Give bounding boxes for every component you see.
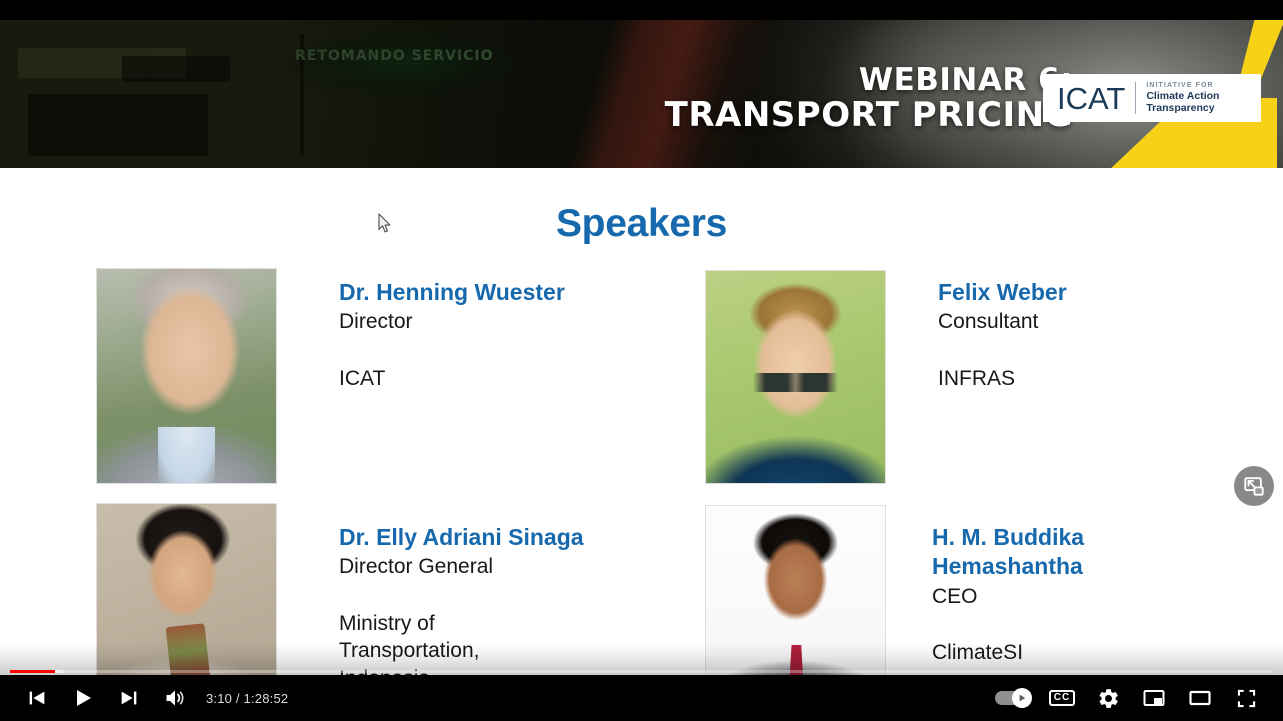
icat-wordmark: ICAT [1057,83,1125,114]
webinar-banner: RETOMANDO SERVICIO WEBINAR 6: TRANSPORT … [0,20,1283,168]
speaker-role: Consultant [938,308,1268,335]
fullscreen-button[interactable] [1223,675,1269,721]
speaker-name: Dr. Henning Wuester [339,278,669,307]
speaker-name: Dr. Elly Adriani Sinaga [339,523,669,552]
icat-logo-divider [1135,82,1136,114]
time-display: 3:10 / 1:28:52 [198,691,298,706]
previous-icon [26,687,48,709]
icat-tagline: INITIATIVE FOR Climate Action Transparen… [1146,82,1219,115]
progress-played [10,670,55,673]
volume-icon [163,686,187,710]
speaker-org: ICAT [339,365,669,393]
next-icon [118,687,140,709]
autoplay-toggle[interactable] [985,675,1039,721]
player-controls-right: CC [985,675,1269,721]
speaker-role: Director [339,308,669,335]
play-icon [71,686,95,710]
icat-logo: ICAT INITIATIVE FOR Climate Action Trans… [1043,74,1261,122]
letterbox-top [0,0,1283,20]
slide-title: Speakers [0,202,1283,246]
icat-tagline-top: INITIATIVE FOR [1146,82,1219,90]
expand-icon [1243,475,1265,497]
icat-tagline-line1: Climate Action [1146,90,1219,102]
icat-tagline-line2: Transparency [1146,102,1219,114]
presentation-slide: RETOMANDO SERVICIO WEBINAR 6: TRANSPORT … [0,20,1283,700]
overlay-expand-button[interactable] [1234,466,1274,506]
miniplayer-button[interactable] [1131,675,1177,721]
autoplay-knob [1012,688,1032,708]
speaker-photo [705,270,886,484]
player-controls-bar: 3:10 / 1:28:52 CC [0,675,1283,721]
subtitles-button[interactable]: CC [1039,675,1085,721]
settings-button[interactable] [1085,675,1131,721]
miniplayer-icon [1142,686,1166,710]
henning-wuester-portrait [97,269,276,483]
speaker-info: H. M. Buddika Hemashantha CEO ClimateSI [932,523,1262,667]
previous-button[interactable] [14,675,60,721]
player-controls-left: 3:10 / 1:28:52 [14,675,298,721]
cc-icon: CC [1049,690,1075,706]
next-button[interactable] [106,675,152,721]
theater-mode-button[interactable] [1177,675,1223,721]
felix-weber-portrait [706,271,885,483]
theater-icon [1188,686,1212,710]
speaker-org: INFRAS [938,365,1268,393]
autoplay-track [995,691,1029,705]
banner-title: WEBINAR 6: TRANSPORT PRICING [665,64,1073,133]
banner-title-line1: WEBINAR 6: [665,64,1073,97]
mute-button[interactable] [152,675,198,721]
gear-icon [1097,687,1120,710]
progress-track[interactable] [10,670,1273,673]
speaker-org: ClimateSI [932,639,1262,667]
banner-title-line2: TRANSPORT PRICING [665,97,1073,133]
fullscreen-icon [1235,687,1258,710]
speaker-info: Dr. Elly Adriani Sinaga Director General… [339,523,669,693]
speaker-name: H. M. Buddika Hemashantha [932,523,1262,582]
progress-bar[interactable] [10,669,1273,674]
speaker-photo [96,268,277,484]
speaker-role: CEO [932,583,1262,610]
play-button[interactable] [60,675,106,721]
youtube-video-player[interactable]: RETOMANDO SERVICIO WEBINAR 6: TRANSPORT … [0,0,1283,721]
speaker-info: Dr. Henning Wuester Director ICAT [339,278,669,392]
autoplay-play-icon [1017,693,1027,703]
speaker-info: Felix Weber Consultant INFRAS [938,278,1268,392]
speaker-name: Felix Weber [938,278,1268,307]
speaker-role: Director General [339,553,669,580]
